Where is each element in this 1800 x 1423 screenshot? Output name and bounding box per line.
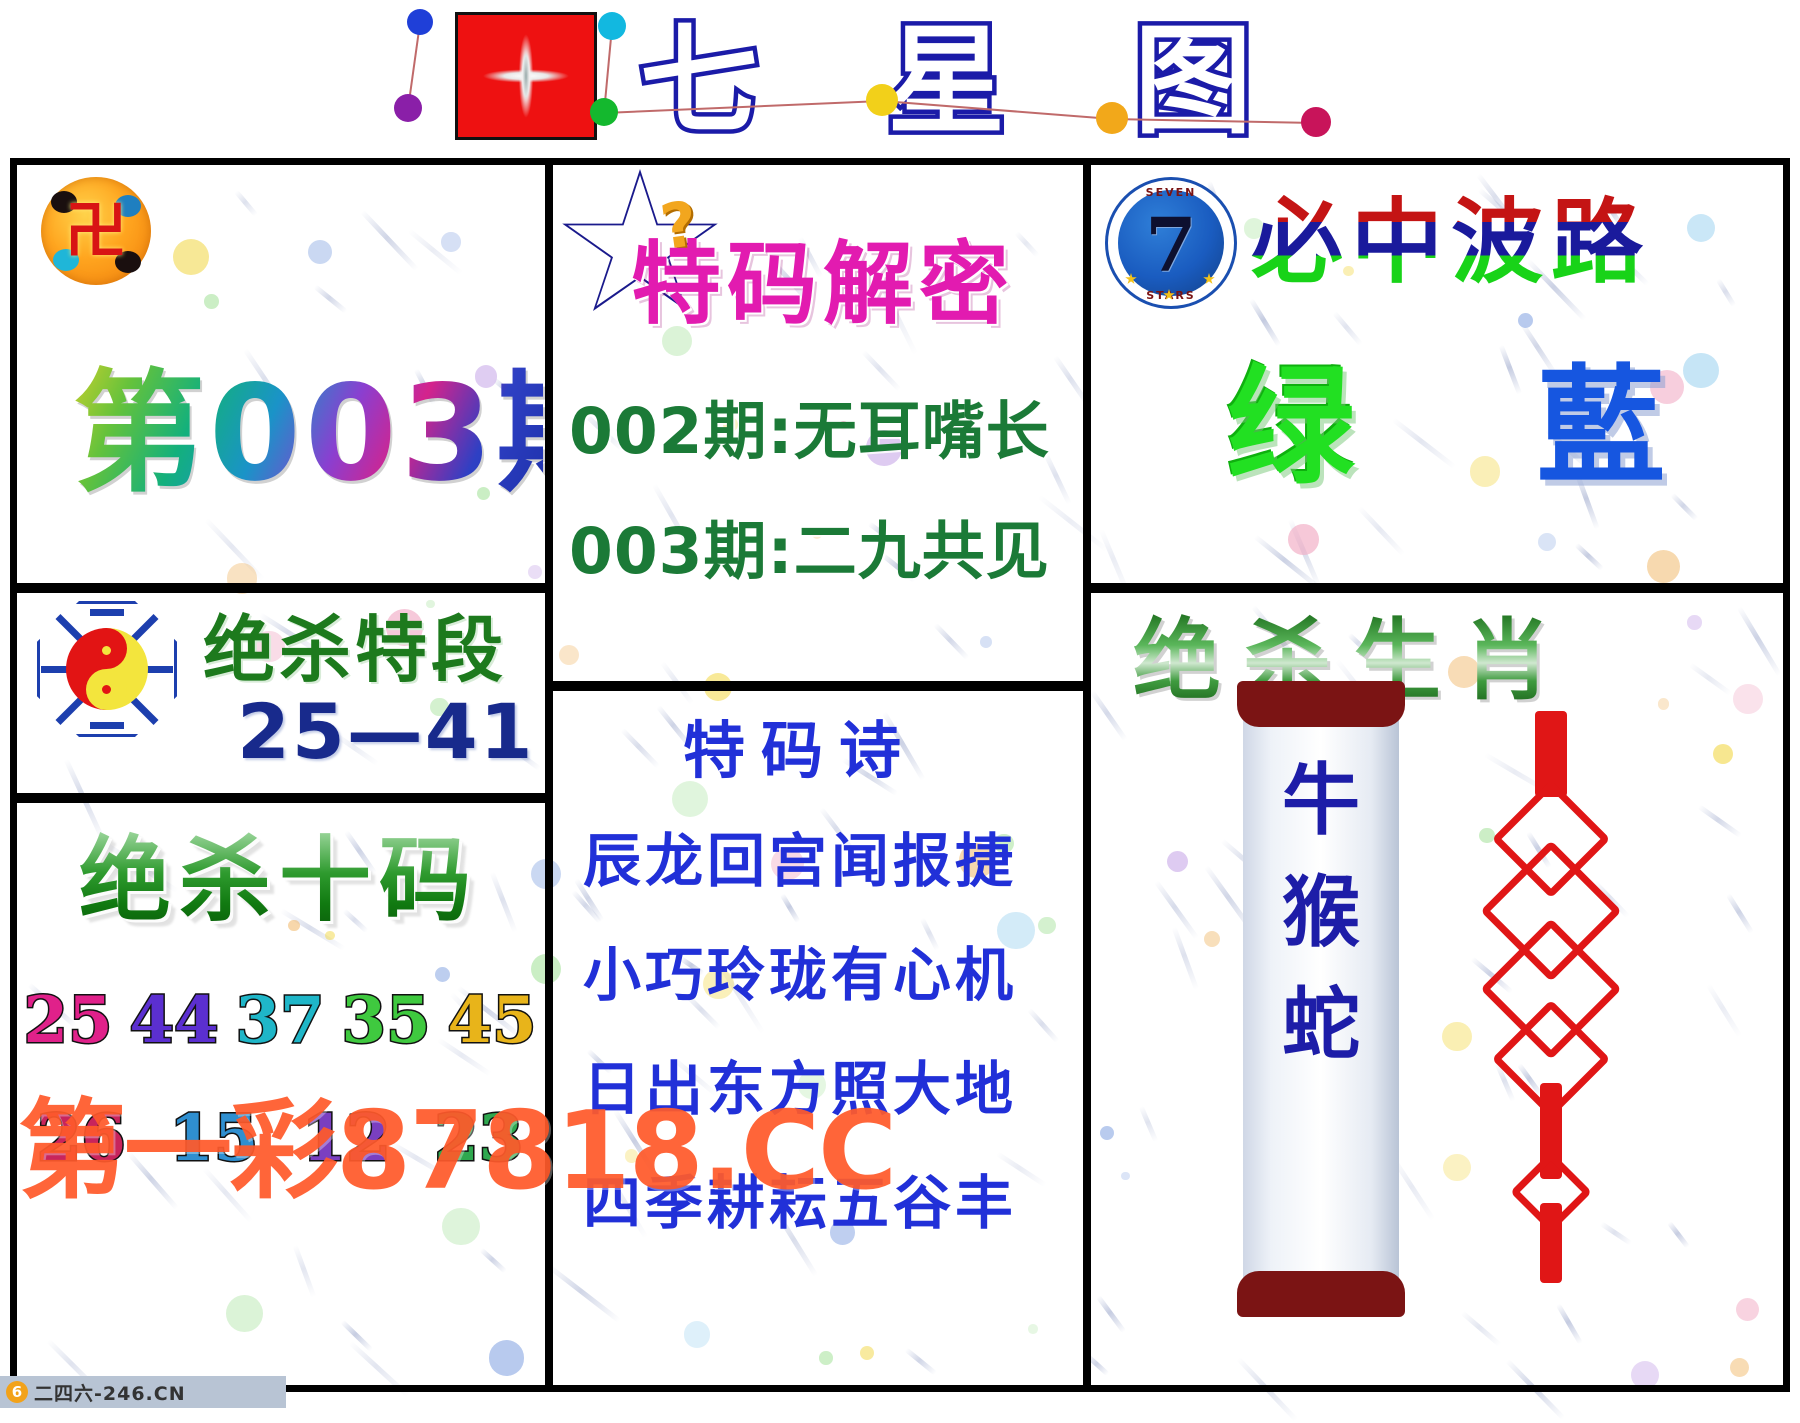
decorative-dot — [407, 9, 433, 35]
red-star-badge-icon — [455, 12, 597, 140]
decorative-dot — [598, 12, 626, 40]
decorative-dot — [394, 94, 422, 122]
footer-watermark: 6 二四六-246.CN — [0, 1376, 286, 1408]
page-header: 七 星 图 — [0, 0, 1800, 158]
footer-badge-icon: 6 — [6, 1381, 28, 1403]
decorative-dot — [590, 98, 618, 126]
site-watermark: 第一彩87818.CC — [18, 1092, 895, 1212]
decorative-dot — [1096, 102, 1128, 134]
footer-watermark-text: 二四六-246.CN — [34, 1379, 186, 1406]
decorative-dot — [866, 84, 898, 116]
page-title: 七 星 图 — [640, 6, 1380, 156]
decorative-dot — [1301, 107, 1331, 137]
